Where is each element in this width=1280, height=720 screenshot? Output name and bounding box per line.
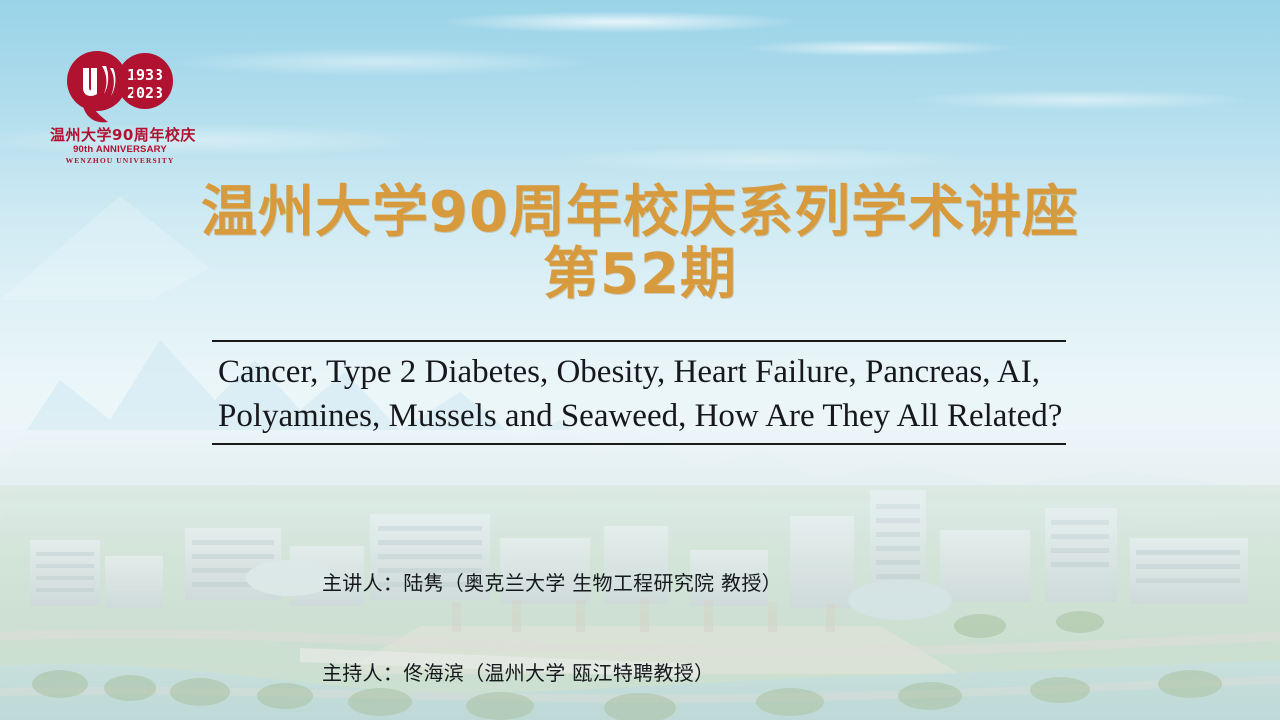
main-title: 温州大学90周年校庆系列学术讲座 第52期 <box>0 182 1280 305</box>
main-title-line-2: 第52期 <box>0 244 1280 306</box>
lecture-details: 主讲人：陆隽（奥克兰大学 生物工程研究院 教授） 主持人：佟海滨（温州大学 瓯江… <box>322 508 782 720</box>
wenzhou-university-90th-anniversary-logo: 1933 2023 温州大学90周年校庆 90th ANNIVERSARY WE… <box>50 48 190 170</box>
svg-text:2023: 2023 <box>127 84 163 102</box>
logo-text-university: WENZHOU UNIVERSITY <box>50 156 190 166</box>
logo-mark: 1933 2023 <box>50 48 190 128</box>
lecture-subtitle-block: Cancer, Type 2 Diabetes, Obesity, Heart … <box>212 340 1066 445</box>
lecture-subtitle: Cancer, Type 2 Diabetes, Obesity, Heart … <box>212 342 1066 443</box>
svg-text:1933: 1933 <box>127 66 163 84</box>
detail-speaker: 主讲人：陆隽（奥克兰大学 生物工程研究院 教授） <box>322 568 782 598</box>
detail-host: 主持人：佟海滨（温州大学 瓯江特聘教授） <box>322 658 782 688</box>
logo-text-chinese: 温州大学90周年校庆 <box>50 128 190 144</box>
logo-text-english: 90th ANNIVERSARY <box>50 144 190 156</box>
logo-emblem-icon: 1933 2023 <box>50 48 190 128</box>
main-title-line-1: 温州大学90周年校庆系列学术讲座 <box>201 180 1079 245</box>
lecture-poster: 1933 2023 温州大学90周年校庆 90th ANNIVERSARY WE… <box>0 0 1280 720</box>
subtitle-rule-bottom <box>212 443 1066 445</box>
